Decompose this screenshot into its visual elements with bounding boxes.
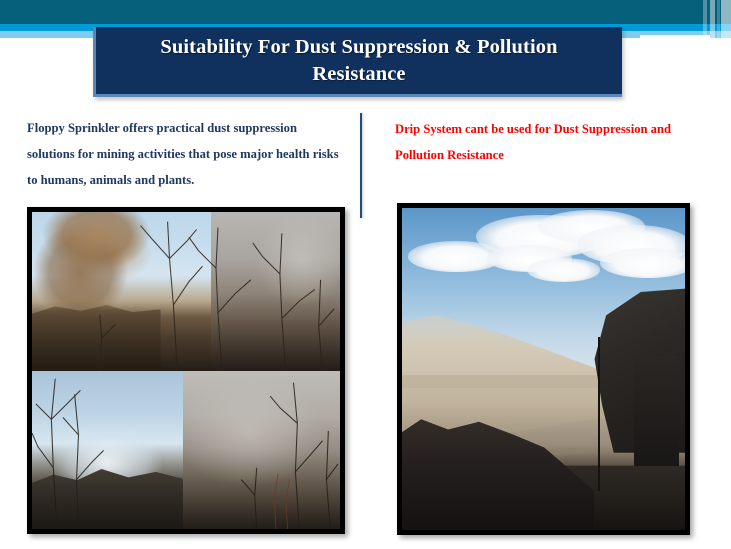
banner-vertical-stripe-4 [721,0,731,40]
left-photo-collage [27,207,345,534]
left-photo-inner [32,212,340,529]
banner-band-teal [0,0,731,24]
right-column-body-text: Drip System cant be used for Dust Suppre… [395,117,717,169]
photo-roadside-pole [598,337,600,492]
slide-title: Suitability For Dust Suppression & Pollu… [96,34,622,86]
right-photo-inner [402,208,685,530]
collage-photo-hazy-hillside [32,371,183,530]
collage-row-bottom [32,371,340,530]
banner-vertical-stripe-1 [703,0,707,40]
right-photo-dust-cloud [397,203,690,535]
collage-hillside-shape [32,459,183,529]
photo-haul-truck-cab [634,356,679,465]
collage-ridge-shape [32,298,161,371]
collage-photo-dust-haze [183,371,340,530]
banner-vertical-stripe-2 [710,0,715,40]
collage-photo-bare-trees [211,212,340,371]
slide-title-plate: Suitability For Dust Suppression & Pollu… [93,27,622,97]
banner-vertical-stripe-3 [717,0,720,40]
column-divider [360,113,362,218]
banner-highlight-line-right [640,35,710,38]
collage-row-top [32,212,340,371]
cloud-shape [527,258,601,281]
left-column-body-text: Floppy Sprinkler offers practical dust s… [27,116,347,193]
cloud-shape [600,248,690,278]
collage-photo-dust-plume [32,212,211,371]
